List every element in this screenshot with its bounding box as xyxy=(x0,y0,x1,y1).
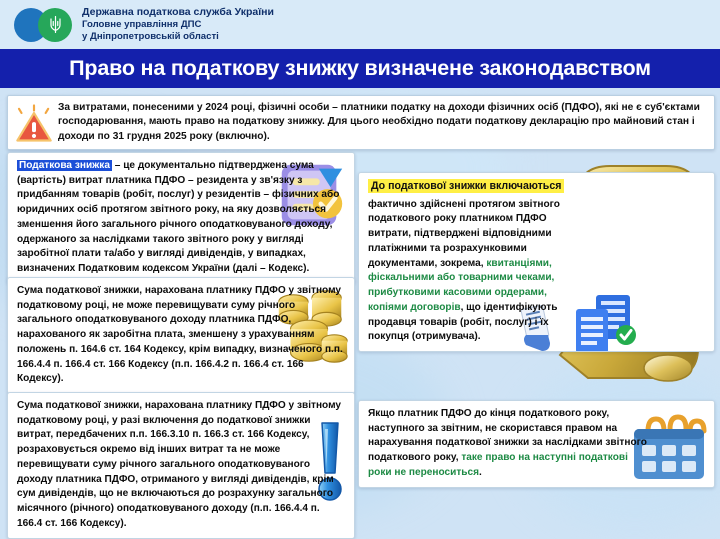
card-dividend-text: Сума податкової знижки, нарахована платн… xyxy=(17,399,346,532)
card-dividend-limit: Сума податкової знижки, нарахована платн… xyxy=(7,392,355,539)
card-tax-discount-limit: Сума податкової знижки, нарахована платн… xyxy=(7,277,355,394)
card-definition-body: Податкова знижка – це документально підт… xyxy=(8,153,354,283)
card-included-text: фактично здійснені протягом звітного под… xyxy=(368,198,578,345)
included-highlight-label: До податкової знижки включаються xyxy=(368,179,564,193)
card-dividend-body: Сума податкової знижки, нарахована платн… xyxy=(8,393,354,538)
logo-circle-green-icon xyxy=(38,8,72,42)
definition-text: – це документально підтверджена сума (ва… xyxy=(17,160,339,274)
org-name-line2: Головне управління ДПС xyxy=(82,19,274,31)
card-noncarry-body: Якщо платник ПДФО до кінця податкового р… xyxy=(359,401,714,487)
card-non-carryover: Якщо платник ПДФО до кінця податкового р… xyxy=(358,400,715,488)
card-limit-body: Сума податкової знижки, нарахована платн… xyxy=(8,278,354,393)
ukrainian-trident-icon xyxy=(49,16,62,33)
org-logo xyxy=(14,8,72,42)
noncarry-text-part2: . xyxy=(479,467,482,478)
card-noncarry-text: Якщо платник ПДФО до кінця податкового р… xyxy=(368,407,654,481)
org-text-block: Державна податкова служба України Головн… xyxy=(82,6,274,42)
org-name-line3: у Дніпропетровській області xyxy=(82,31,274,43)
card-included-expenses: До податкової знижки включаються фактичн… xyxy=(358,172,715,352)
definition-highlight-label: Податкова знижка xyxy=(17,160,112,171)
intro-text: За витратами, понесеними у 2024 році, фі… xyxy=(56,96,714,149)
org-header: Державна податкова служба України Головн… xyxy=(0,0,720,49)
org-name-line1: Державна податкова служба України xyxy=(82,6,274,19)
card-limit-text: Сума податкової знижки, нарахована платн… xyxy=(17,284,346,387)
card-included-body: До податкової знижки включаються фактичн… xyxy=(359,173,714,351)
included-highlight-line: До податкової знижки включаються xyxy=(368,179,706,195)
card-definition-text: Податкова знижка – це документально підт… xyxy=(17,159,346,277)
card-tax-discount-definition: Податкова знижка – це документально підт… xyxy=(7,152,355,284)
intro-banner: За витратами, понесеними у 2024 році, фі… xyxy=(7,95,715,150)
page-title: Право на податкову знижку визначене зако… xyxy=(69,56,651,81)
warning-triangle-icon xyxy=(14,103,54,143)
title-bar: Право на податкову знижку визначене зако… xyxy=(0,49,720,88)
